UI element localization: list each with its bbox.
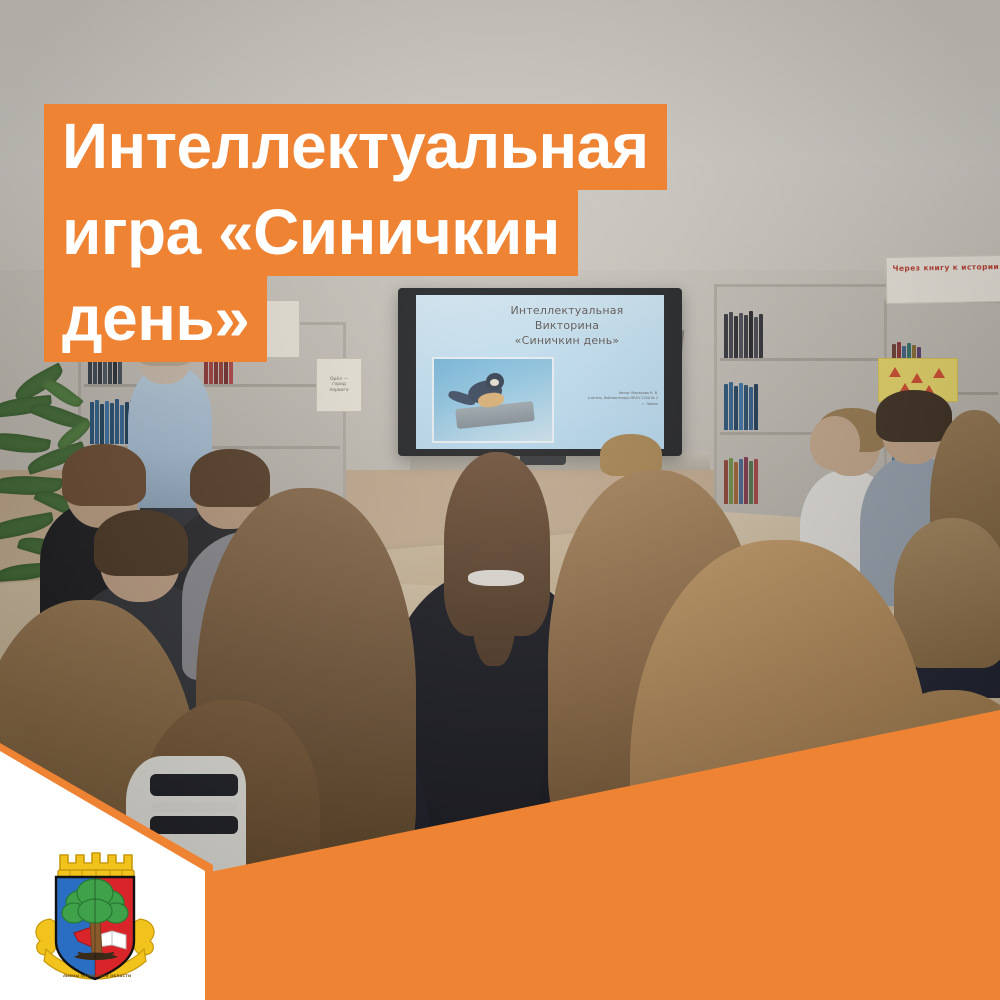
title-line-3: день»: [44, 276, 267, 362]
coat-of-arms-emblem: [30, 841, 160, 986]
title-line-2: игра «Синичкин: [44, 190, 578, 276]
sign-orel: Орёл — город первого: [316, 358, 362, 412]
poster-canvas: Через книгу к истории Орёл — город перво…: [0, 0, 1000, 1000]
slide-bird-photo: [432, 357, 554, 443]
title-line-1: Интеллектуальная: [44, 104, 667, 190]
emblem-ribbon-text: ЛИВНЫ ОРЛОВСКОЙ ОБЛАСТИ: [52, 974, 142, 978]
crown-icon: [58, 853, 134, 877]
tv-stand: [520, 456, 566, 465]
poster-title: Интеллектуальная игра «Синичкин день»: [44, 104, 804, 362]
slide-credit: Автор: Макарова Н. В. учитель, библиотек…: [562, 391, 658, 407]
library-banner: Через книгу к истории: [886, 255, 1000, 304]
